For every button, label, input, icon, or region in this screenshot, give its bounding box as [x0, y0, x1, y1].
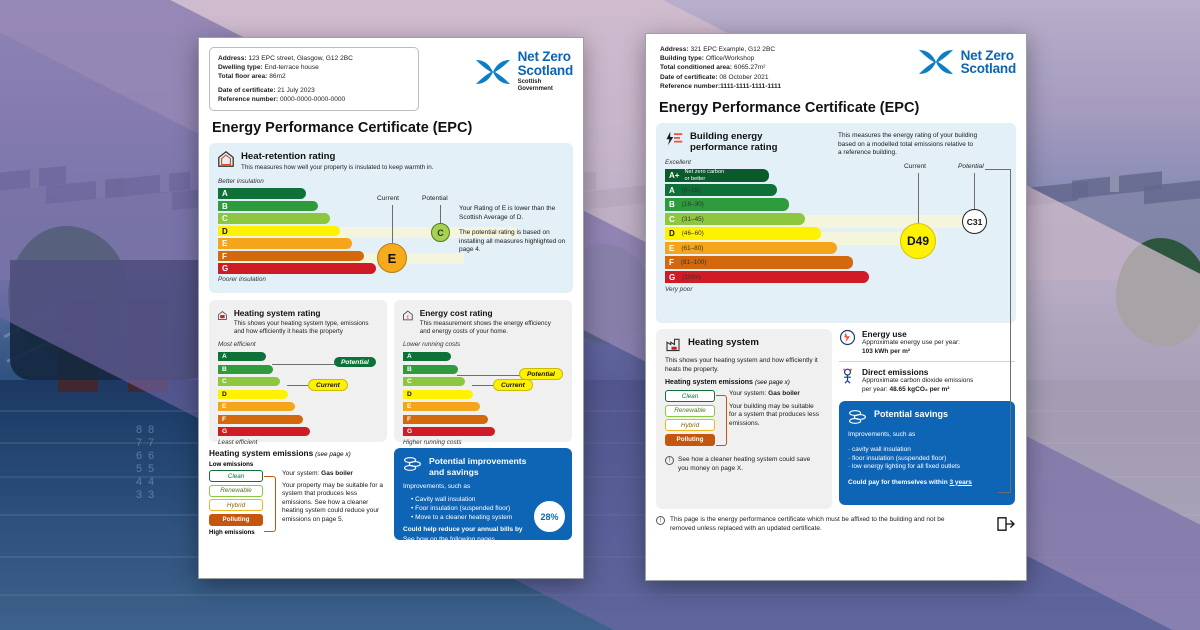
band-range-d: (46–60) — [682, 230, 704, 237]
direct-emissions-line1: Approximate carbon dioxide emissions — [862, 377, 973, 386]
domestic-header: Address: 123 EPC street, Glasgow, G12 2B… — [209, 47, 573, 111]
address-value: 123 EPC street, Glasgow, G12 2BC — [248, 55, 352, 62]
non-domestic-savings-item: · cavity wall insulation — [848, 446, 1006, 455]
heat-retention-top-label: Better insulation — [218, 178, 564, 185]
non-domestic-heating-subtitle: This shows your heating system and how e… — [665, 357, 823, 374]
non-domestic-heating-note: Your building may be suitable for a syst… — [729, 403, 823, 429]
emissions-chip-hybrid[interactable]: Hybrid — [665, 419, 715, 431]
reference-label: Reference number: — [218, 96, 278, 103]
heat-retention-bar-chart: A B C D E F G — [218, 188, 564, 274]
energy-cost-rating-panel: £ Energy cost rating This measurement sh… — [394, 300, 572, 442]
non-domestic-emissions-note: (see page x) — [755, 379, 790, 386]
non-domestic-savings-title: Potential savings — [874, 409, 948, 420]
non-domestic-savings-result-value: 3 years — [950, 479, 972, 486]
heating-system-rating-panel: Heating system rating This shows your he… — [209, 300, 387, 442]
emissions-person-icon — [839, 367, 856, 384]
energy-use-line1: Approximate energy use per year: — [862, 339, 960, 348]
building-performance-top-label: Excellent — [665, 159, 1007, 166]
logo-sub2: Government — [518, 86, 573, 93]
savings-intro: Improvements, such as — [403, 483, 563, 492]
non-domestic-chip-list: Clean Renewable Hybrid Polluting — [665, 390, 715, 448]
direct-emissions-value: 48.65 kgCO₂ per m² — [889, 386, 949, 393]
band-range-c: (31–45) — [682, 216, 704, 223]
svg-text:£: £ — [407, 314, 410, 319]
non-domestic-your-system-value: Gas boiler — [768, 390, 800, 397]
emissions-top-label: Low emissions — [209, 461, 387, 468]
emissions-title-note: (see page x) — [315, 451, 351, 458]
conditioned-area-label: Total conditioned area: — [660, 64, 732, 71]
energy-cost-current-pill: Current — [493, 379, 533, 391]
heating-rating-bottom-label: Least efficient — [218, 439, 378, 446]
date-value: 08 October 2021 — [719, 74, 768, 81]
non-domestic-savings-panel: Potential savings Improvements, such as … — [839, 401, 1015, 505]
savings-percentage-badge: 28% — [534, 501, 565, 532]
factory-icon — [665, 337, 681, 352]
savings-item: • Cavity wall insulation — [411, 495, 563, 504]
reference-label: Reference number: — [660, 83, 720, 90]
heat-retention-subtitle: This measures how well your property is … — [241, 164, 434, 172]
house-pound-icon: £ — [403, 308, 413, 323]
heating-rating-potential-pill: Potential — [334, 357, 376, 367]
savings-result-line1: Could help reduce your annual bills by — [403, 526, 525, 535]
energy-cost-top-label: Lower running costs — [403, 341, 563, 348]
energy-cost-title: Energy cost rating — [420, 308, 563, 318]
heating-rating-subtitle: This shows your heating system type, emi… — [234, 320, 378, 336]
heat-retention-panel: Heat-retention rating This measures how … — [209, 143, 573, 293]
conditioned-area-value: 6065.27m² — [734, 64, 766, 71]
band-range-e: (61–80) — [681, 245, 703, 252]
savings-title-line1: Potential improvements — [429, 456, 526, 467]
net-zero-scotland-logo: Net Zero Scotland Scottish Government — [473, 47, 573, 93]
domestic-emissions-block: Heating system emissions (see page x) Lo… — [209, 448, 387, 540]
emissions-chip-clean[interactable]: Clean — [665, 390, 715, 402]
logo-line2: Scotland — [518, 64, 573, 78]
your-system-label: Your system: — [282, 470, 319, 477]
emissions-chip-list: Clean Renewable Hybrid Polluting — [209, 470, 263, 528]
net-zero-scotland-logo: Net Zero Scotland — [916, 43, 1016, 78]
address-label: Address: — [218, 55, 247, 62]
non-domestic-heating-panel: Heating system This shows your heating s… — [656, 329, 832, 509]
emissions-chip-renewable[interactable]: Renewable — [665, 405, 715, 417]
floor-area-value: 86m2 — [269, 73, 286, 80]
direct-emissions-title: Direct emissions — [862, 367, 973, 377]
building-performance-title-line2: performance rating — [690, 142, 777, 153]
logo-line1: Net Zero — [961, 49, 1016, 63]
building-performance-bar-chart: A+Net zero carbonor better A(0–15) B(16–… — [665, 169, 1007, 284]
house-boiler-icon — [218, 308, 227, 323]
address-value: 321 EPC Example, G12 2BC — [690, 46, 775, 53]
house-warmth-icon — [218, 151, 234, 167]
domestic-address-box: Address: 123 EPC street, Glasgow, G12 2B… — [209, 47, 419, 111]
saltire-butterfly-icon — [473, 56, 513, 88]
emissions-chip-polluting[interactable]: Polluting — [209, 514, 263, 526]
savings-title-line2: and savings — [429, 467, 526, 478]
reference-value: 0000-0000-0000-0000 — [280, 96, 345, 103]
non-domestic-heating-title: Heating system — [688, 337, 759, 348]
energy-bolt-icon — [665, 131, 683, 146]
non-domestic-epc-certificate: Address: 321 EPC Example, G12 2BC Buildi… — [645, 33, 1027, 581]
emissions-chip-polluting[interactable]: Polluting — [665, 434, 715, 446]
saltire-butterfly-icon — [916, 46, 956, 78]
date-label: Date of certificate: — [218, 87, 276, 94]
logo-line2: Scotland — [961, 62, 1016, 76]
emissions-chip-renewable[interactable]: Renewable — [209, 485, 263, 497]
non-domestic-savings-intro: Improvements, such as — [848, 431, 1006, 440]
dwelling-value: End-terrace house — [265, 64, 319, 71]
non-domestic-header: Address: 321 EPC Example, G12 2BC Buildi… — [656, 43, 1016, 91]
building-performance-description: This measures the energy rating of your … — [838, 132, 978, 158]
non-domestic-footer-text: This page is the energy performance cert… — [670, 516, 960, 533]
coins-icon — [848, 409, 867, 425]
building-performance-title-line1: Building energy — [690, 131, 777, 142]
non-domestic-emissions-title: Heating system emissions — [665, 379, 753, 386]
energy-cost-subtitle: This measurement shows the energy effici… — [420, 320, 563, 336]
potential-savings-panel: Potential improvements and savings Impro… — [394, 448, 572, 540]
band-range-f: (81–100) — [681, 259, 707, 266]
heating-rating-current-pill: Current — [308, 379, 348, 391]
info-icon: ! — [665, 456, 674, 465]
dwelling-label: Dwelling type: — [218, 64, 263, 71]
address-label: Address: — [660, 46, 689, 53]
energy-meter-icon — [839, 329, 856, 346]
building-type-value: Office/Workshop — [706, 55, 755, 62]
non-domestic-heating-footnote: See how a cleaner heating system could s… — [678, 456, 816, 473]
non-domestic-savings-result-prefix: Could pay for themselves within — [848, 479, 948, 486]
emissions-bottom-label: High emissions — [209, 529, 387, 536]
non-domestic-your-system-label: Your system: — [729, 390, 766, 397]
info-icon: ! — [656, 516, 665, 525]
date-value: 21 July 2023 — [277, 87, 314, 94]
non-domestic-savings-item: · floor insulation (suspended floor) — [848, 455, 1006, 464]
emissions-title: Heating system emissions — [209, 448, 313, 458]
building-type-label: Building type: — [660, 55, 704, 62]
non-domestic-savings-item: · low energy lighting for all fixed outl… — [848, 463, 1006, 472]
energy-cost-bar-chart: A B C D E F G — [403, 351, 563, 437]
emissions-chip-clean[interactable]: Clean — [209, 470, 263, 482]
savings-result-line2: See how on the following pages. — [403, 536, 525, 545]
reference-value: 1111-1111-1111-1111 — [720, 83, 781, 90]
energy-cost-bottom-label: Higher running costs — [403, 439, 563, 446]
band-range-b: (16–30) — [682, 201, 704, 208]
building-performance-panel: Building energy performance rating This … — [656, 123, 1016, 323]
heating-rating-top-label: Most efficient — [218, 341, 378, 348]
heat-retention-bottom-label: Poorer insulation — [218, 276, 564, 283]
coins-icon — [403, 456, 422, 472]
floor-area-label: Total floor area: — [218, 73, 267, 80]
heat-retention-title: Heat-retention rating — [241, 151, 434, 162]
emissions-note: Your property may be suitable for a syst… — [282, 482, 386, 525]
building-performance-bottom-label: Very poor — [665, 286, 1007, 293]
logo-line1: Net Zero — [518, 50, 573, 64]
direct-emissions-prefix: per year: — [862, 386, 888, 393]
non-domestic-page-title: Energy Performance Certificate (EPC) — [659, 100, 1016, 116]
band-range-g: (100+) — [682, 274, 701, 281]
energy-use-value: 103 kWh per m² — [862, 348, 960, 357]
date-label: Date of certificate: — [660, 74, 718, 81]
band-range-a: (0–15) — [682, 187, 700, 194]
your-system-value: Gas boiler — [321, 470, 353, 477]
emissions-chip-hybrid[interactable]: Hybrid — [209, 499, 263, 511]
non-domestic-address-box: Address: 321 EPC Example, G12 2BC Buildi… — [656, 43, 886, 91]
non-domestic-right-column: Energy use Approximate energy use per ye… — [839, 329, 1015, 509]
energy-use-title: Energy use — [862, 329, 960, 339]
domestic-epc-certificate: Address: 123 EPC street, Glasgow, G12 2B… — [198, 37, 584, 579]
heating-rating-title: Heating system rating — [234, 308, 378, 318]
exit-door-icon — [996, 516, 1016, 532]
logo-sub1: Scottish — [518, 79, 573, 86]
domestic-page-title: Energy Performance Certificate (EPC) — [212, 120, 573, 136]
